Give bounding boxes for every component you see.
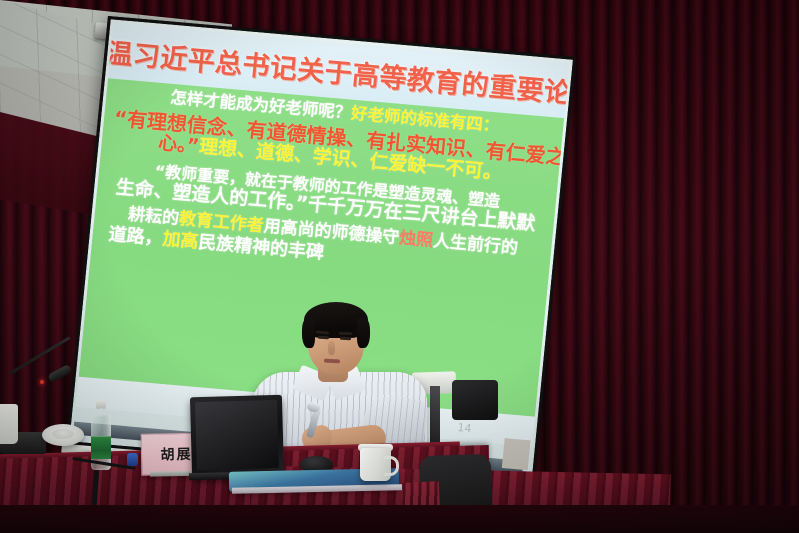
speaker-eye-right — [340, 337, 351, 341]
left-cup — [0, 404, 18, 444]
slide-text-yellow: 加高 — [162, 228, 200, 252]
laptop-screen[interactable] — [190, 395, 284, 479]
saucer-inner — [52, 429, 74, 439]
screen-pull-tab — [502, 438, 531, 470]
slide-page-number: 14 — [457, 421, 472, 435]
floor — [0, 505, 799, 533]
microphone-led-icon — [40, 380, 44, 384]
speaker-nose — [328, 341, 335, 355]
speaker-hair-left — [302, 318, 315, 348]
speaker-hair-right — [357, 318, 370, 348]
slide-text-pink: 烛照 — [398, 229, 434, 252]
slide-text-red: 心。” — [157, 132, 200, 157]
slide-text-white: 道路， — [108, 224, 164, 250]
mug — [360, 448, 391, 481]
dark-equipment — [452, 380, 498, 420]
speaker-eyebrow-right — [339, 332, 352, 335]
photo-scene: 重温习近平总书记关于高等教育的重要论述 怎样才能成为好老师呢？好老师的标准有四：… — [0, 0, 799, 533]
bottle-label — [91, 436, 111, 459]
speaker-mouth — [324, 359, 340, 364]
blue-connector — [127, 453, 138, 466]
